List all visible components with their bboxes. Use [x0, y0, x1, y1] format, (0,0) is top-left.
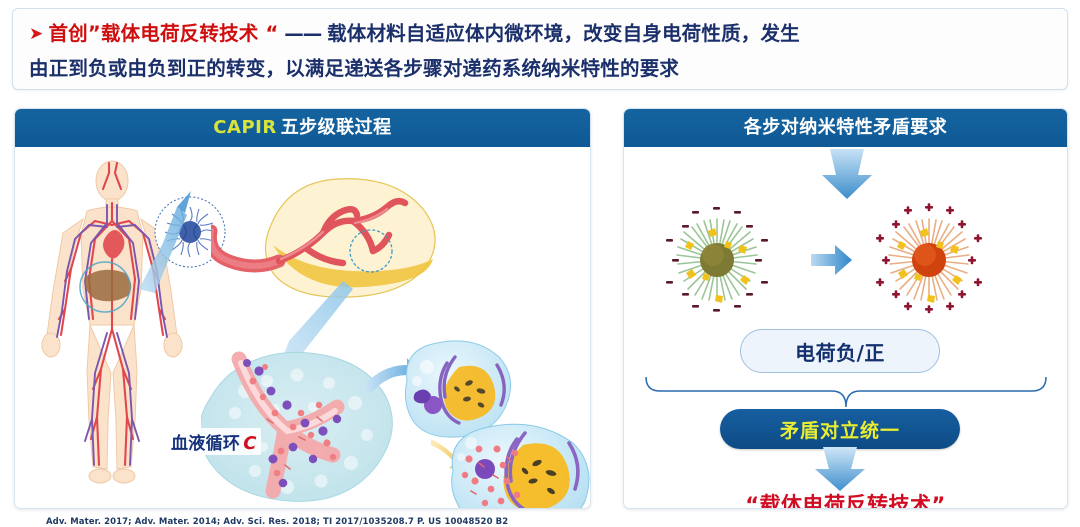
down-arrow-bottom-icon	[811, 447, 869, 491]
down-arrow-top-icon	[818, 149, 876, 199]
converging-brace	[642, 375, 1050, 411]
right-panel-header: 各步对纳米特性矛盾要求	[624, 109, 1067, 147]
drug-release-cell-illustration	[445, 419, 591, 509]
header-line-1: ➤首创”载体电荷反转技术 “ —— 载体材料自适应体内微环境，改变自身电荷性质，…	[29, 17, 1053, 52]
left-panel: CAPIR五步级联过程	[14, 108, 591, 509]
step-label-circulation: 血液循环C	[167, 428, 261, 455]
step-mark-c: C	[243, 433, 257, 454]
bullet-arrow-icon: ➤	[29, 17, 43, 51]
step-name-circulation: 血液循环	[171, 434, 240, 454]
header-title-rest: 载体材料自适应体内微环境，改变自身电荷性质，发生	[327, 22, 800, 45]
right-panel-body: 电荷负/正 矛盾对立统一 “载体电荷反转技术”	[624, 147, 1067, 509]
nanoparticle-negative	[660, 203, 774, 317]
left-panel-header: CAPIR五步级联过程	[15, 109, 590, 147]
header-dash: ——	[278, 22, 327, 45]
left-panel-title-accent: CAPIR	[213, 117, 276, 138]
header-line-2: 由正到负或由负到正的转变，以满足递送各步骤对递药系统纳米特性的要求	[29, 52, 1053, 86]
nanoparticle-positive	[872, 203, 986, 317]
slide-root: ➤首创”载体电荷反转技术 “ —— 载体材料自适应体内微环境，改变自身电荷性质，…	[0, 0, 1080, 527]
final-technology-label: “载体电荷反转技术”	[624, 489, 1067, 509]
left-panel-body: Internalization 血液循环C 肿瘤蓄积A 瘤内渗透P 细胞内吞I …	[15, 147, 590, 509]
unity-of-opposites-badge: 矛盾对立统一	[720, 409, 960, 449]
footer-citation: Adv. Mater. 2017; Adv. Mater. 2014; Adv.…	[46, 517, 1036, 527]
blue-funnel-arrow-upper	[133, 183, 193, 293]
right-panel: 各步对纳米特性矛盾要求	[623, 108, 1068, 509]
transform-arrow-icon	[809, 243, 853, 277]
header-callout-box: ➤首创”载体电荷反转技术 “ —— 载体材料自适应体内微环境，改变自身电荷性质，…	[12, 8, 1068, 90]
charge-state-label: 电荷负/正	[740, 329, 940, 373]
header-title-red: 首创”载体电荷反转技术 “	[48, 22, 278, 45]
left-panel-title-rest: 五步级联过程	[281, 117, 392, 138]
